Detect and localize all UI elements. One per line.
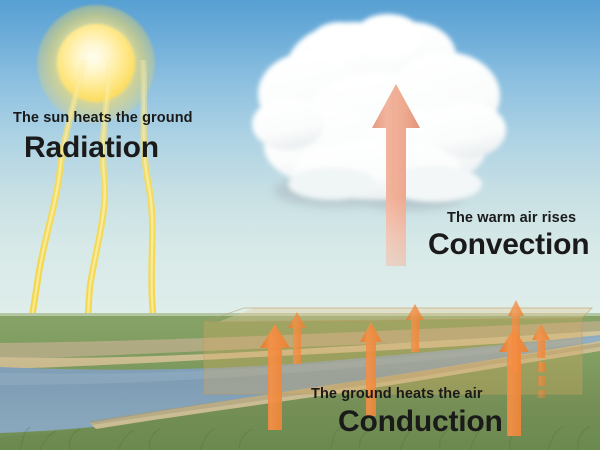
- conduction-arrow-short-1: [288, 312, 306, 364]
- radiation-heading: Radiation: [24, 131, 159, 165]
- upward-convection-arrow: [366, 80, 426, 270]
- convection-arrow-fade: [372, 84, 420, 266]
- conduction-caption: The ground heats the air: [311, 386, 483, 402]
- conduction-arrow-long-left: [260, 324, 290, 430]
- conduction-arrow-far-right: [532, 324, 550, 398]
- heat-transfer-diagram: The sun heats the ground Radiation The w…: [0, 0, 600, 450]
- radiation-caption: The sun heats the ground: [13, 110, 193, 126]
- conduction-heading: Conduction: [338, 405, 503, 439]
- convection-caption: The warm air rises: [447, 210, 576, 226]
- convection-heading: Convection: [428, 228, 589, 262]
- conduction-arrow-short-2: [406, 304, 424, 352]
